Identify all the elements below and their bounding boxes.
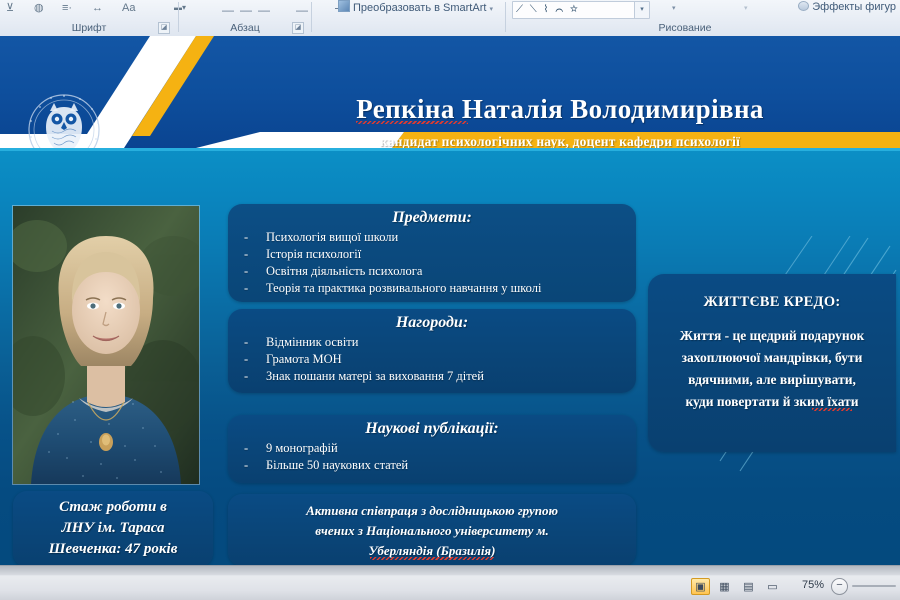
spellcheck-underline bbox=[812, 408, 852, 411]
status-bar-top-edge bbox=[0, 566, 900, 575]
portrait-image bbox=[13, 206, 199, 484]
ribbon-divider bbox=[311, 2, 312, 32]
list-item: Відмінник освіти bbox=[228, 334, 636, 351]
panel-publications-title: Наукові публікації: bbox=[228, 415, 636, 438]
slide-sorter-view-button[interactable]: ▦ bbox=[715, 578, 734, 595]
list-item: Освітня діяльність психолога bbox=[228, 263, 636, 280]
experience-line: Стаж роботи в bbox=[13, 497, 213, 518]
experience-line: Шевченка: 47 років bbox=[13, 539, 213, 560]
font-color-icon[interactable]: ▬▾ bbox=[174, 0, 186, 16]
panel-subjects-title: Предмети: bbox=[228, 204, 636, 227]
panel-subjects-list: Психологія вищої школи Історія психологі… bbox=[228, 229, 636, 297]
chevron-down-icon: ▾ bbox=[489, 6, 493, 13]
panel-experience[interactable]: Стаж роботи в ЛНУ ім. Тараса Шевченка: 4… bbox=[13, 491, 213, 565]
text-shadow-icon[interactable]: ◍ bbox=[34, 0, 44, 16]
presenter-photo[interactable] bbox=[13, 206, 199, 484]
panel-awards[interactable]: Нагороди: Відмінник освіти Грамота МОН З… bbox=[228, 309, 636, 393]
panel-awards-list: Відмінник освіти Грамота МОН Знак пошани… bbox=[228, 334, 636, 385]
credo-line: захоплюючої мандрівки, бути bbox=[658, 347, 886, 369]
shape-effects-icon bbox=[798, 1, 809, 11]
shape-outline-dropdown-icon[interactable]: ▾ bbox=[744, 3, 748, 15]
list-item: 9 монографій bbox=[228, 440, 636, 457]
character-spacing-icon[interactable]: ↔ bbox=[92, 0, 103, 16]
collaboration-line: вчених з Національного університету м. bbox=[228, 521, 636, 541]
credo-line: Життя - це щедрий подарунок bbox=[658, 325, 886, 347]
panel-subjects[interactable]: Предмети: Психологія вищої школи Історія… bbox=[228, 204, 636, 302]
reading-view-button[interactable]: ▤ bbox=[739, 578, 758, 595]
list-item: Історія психології bbox=[228, 246, 636, 263]
ribbon-group-font-label: Шрифт bbox=[0, 21, 178, 35]
presenter-credentials: кандидат психологічних наук, доцент кафе… bbox=[250, 134, 870, 148]
header-accent-line bbox=[0, 148, 900, 151]
paragraph-align-icons[interactable]: ——— bbox=[222, 3, 276, 17]
experience-line: ЛНУ ім. Тараса bbox=[13, 518, 213, 539]
chevron-down-icon: ▾ bbox=[640, 6, 644, 13]
list-item: Психологія вищої школи bbox=[228, 229, 636, 246]
shape-effects-label: Эффекты фигур bbox=[812, 1, 896, 13]
smartart-icon bbox=[338, 0, 350, 12]
shapes-gallery-dropdown[interactable]: ▾ bbox=[634, 1, 650, 19]
change-case-icon[interactable]: Aa bbox=[122, 0, 135, 16]
panel-life-credo-text: Життя - це щедрий подарунок захоплюючої … bbox=[648, 325, 896, 413]
panel-life-credo[interactable]: ЖИТТЄВЕ КРЕДО: Життя - це щедрий подарун… bbox=[648, 274, 896, 452]
underline-icon[interactable]: ⊻ bbox=[6, 0, 14, 16]
slide-header-band: Репкіна Наталія Володимирівна кандидат п… bbox=[0, 36, 900, 148]
university-owl-emblem-icon bbox=[22, 91, 106, 148]
slideshow-view-button[interactable]: ▭ bbox=[763, 578, 782, 595]
panel-collaboration[interactable]: Активна співпраця з дослідницькою групою… bbox=[228, 494, 636, 565]
collaboration-line: Активна співпраця з дослідницькою групою bbox=[228, 501, 636, 521]
ribbon-divider bbox=[178, 2, 179, 32]
list-item: Теорія та практика розвивального навчанн… bbox=[228, 280, 636, 297]
credo-line: вдячними, але вирішувати, bbox=[658, 369, 886, 391]
ribbon-group-drawing-label: Рисование bbox=[560, 21, 810, 35]
normal-view-button[interactable]: ▣ bbox=[691, 578, 710, 595]
status-bar: ▣ ▦ ▤ ▭ 75% − bbox=[0, 565, 900, 600]
convert-to-smartart-button[interactable]: Преобразовать в SmartArt▾ bbox=[338, 0, 493, 15]
font-dialog-launcher[interactable]: ◪ bbox=[158, 22, 170, 34]
slide-canvas[interactable]: Репкіна Наталія Володимирівна кандидат п… bbox=[0, 36, 900, 565]
ribbon-icon-row: ⊻ ◍ ≡· ↔ Aa ▬▾ ——— — ⎯⎯ Преобразовать в … bbox=[0, 0, 900, 16]
paragraph-dialog-launcher[interactable]: ◪ bbox=[292, 22, 304, 34]
view-buttons-group: ▣ ▦ ▤ ▭ bbox=[691, 578, 782, 595]
zoom-out-button[interactable]: − bbox=[831, 578, 848, 595]
panel-publications-list: 9 монографій Більше 50 наукових статей bbox=[228, 440, 636, 474]
panel-publications[interactable]: Наукові публікації: 9 монографій Більше … bbox=[228, 415, 636, 483]
spellcheck-underline bbox=[370, 557, 494, 560]
ribbon-divider bbox=[505, 2, 506, 32]
spellcheck-underline bbox=[356, 121, 468, 124]
shapes-gallery[interactable]: ⟋ ⟍ ⌇ ⌒ ☆ bbox=[512, 1, 637, 19]
zoom-level-label[interactable]: 75% bbox=[802, 578, 824, 593]
shape-fill-dropdown-icon[interactable]: ▾ bbox=[672, 3, 676, 15]
panel-collaboration-text: Активна співпраця з дослідницькою групою… bbox=[228, 494, 636, 561]
strikethrough-icon[interactable]: ≡· bbox=[62, 0, 72, 16]
list-item: Більше 50 наукових статей bbox=[228, 457, 636, 474]
convert-to-smartart-label: Преобразовать в SmartArt bbox=[353, 2, 486, 14]
slide-title-block: Репкіна Наталія Володимирівна кандидат п… bbox=[250, 94, 870, 148]
zoom-slider[interactable] bbox=[852, 585, 896, 587]
panel-life-credo-title: ЖИТТЄВЕ КРЕДО: bbox=[648, 274, 896, 311]
ribbon-group-paragraph-label: Абзац bbox=[180, 21, 310, 35]
list-item: Грамота МОН bbox=[228, 351, 636, 368]
powerpoint-window: ⊻ ◍ ≡· ↔ Aa ▬▾ ——— — ⎯⎯ Преобразовать в … bbox=[0, 0, 900, 600]
panel-awards-title: Нагороди: bbox=[228, 309, 636, 332]
shapes-gallery-glyphs: ⟋ ⟍ ⌇ ⌒ ☆ bbox=[516, 4, 580, 15]
list-item: Знак пошани матері за виховання 7 дітей bbox=[228, 368, 636, 385]
panel-experience-text: Стаж роботи в ЛНУ ім. Тараса Шевченка: 4… bbox=[13, 491, 213, 560]
ribbon-toolbar: ⊻ ◍ ≡· ↔ Aa ▬▾ ——— — ⎯⎯ Преобразовать в … bbox=[0, 0, 900, 37]
presenter-name: Репкіна Наталія Володимирівна bbox=[356, 94, 764, 125]
shape-effects-button[interactable]: Эффекты фигур bbox=[798, 0, 896, 15]
